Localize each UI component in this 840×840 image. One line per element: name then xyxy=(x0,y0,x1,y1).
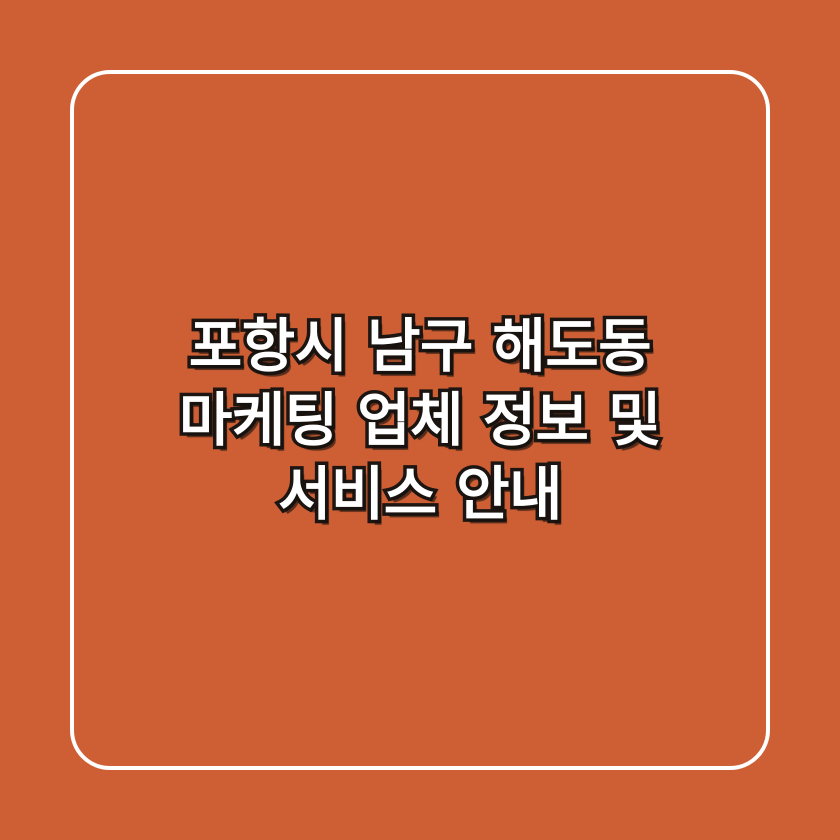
poster-canvas: 포항시 남구 해도동 마케팅 업체 정보 및 서비스 안내 xyxy=(0,0,840,840)
headline-container: 포항시 남구 해도동 마케팅 업체 정보 및 서비스 안내 xyxy=(0,0,840,840)
headline-text-block: 포항시 남구 해도동 마케팅 업체 정보 및 서비스 안내 xyxy=(92,309,748,531)
headline-line-1: 포항시 남구 해도동 xyxy=(189,309,651,383)
headline-line-3: 서비스 안내 xyxy=(278,457,562,531)
headline-line-2: 마케팅 업체 정보 및 xyxy=(179,383,661,457)
